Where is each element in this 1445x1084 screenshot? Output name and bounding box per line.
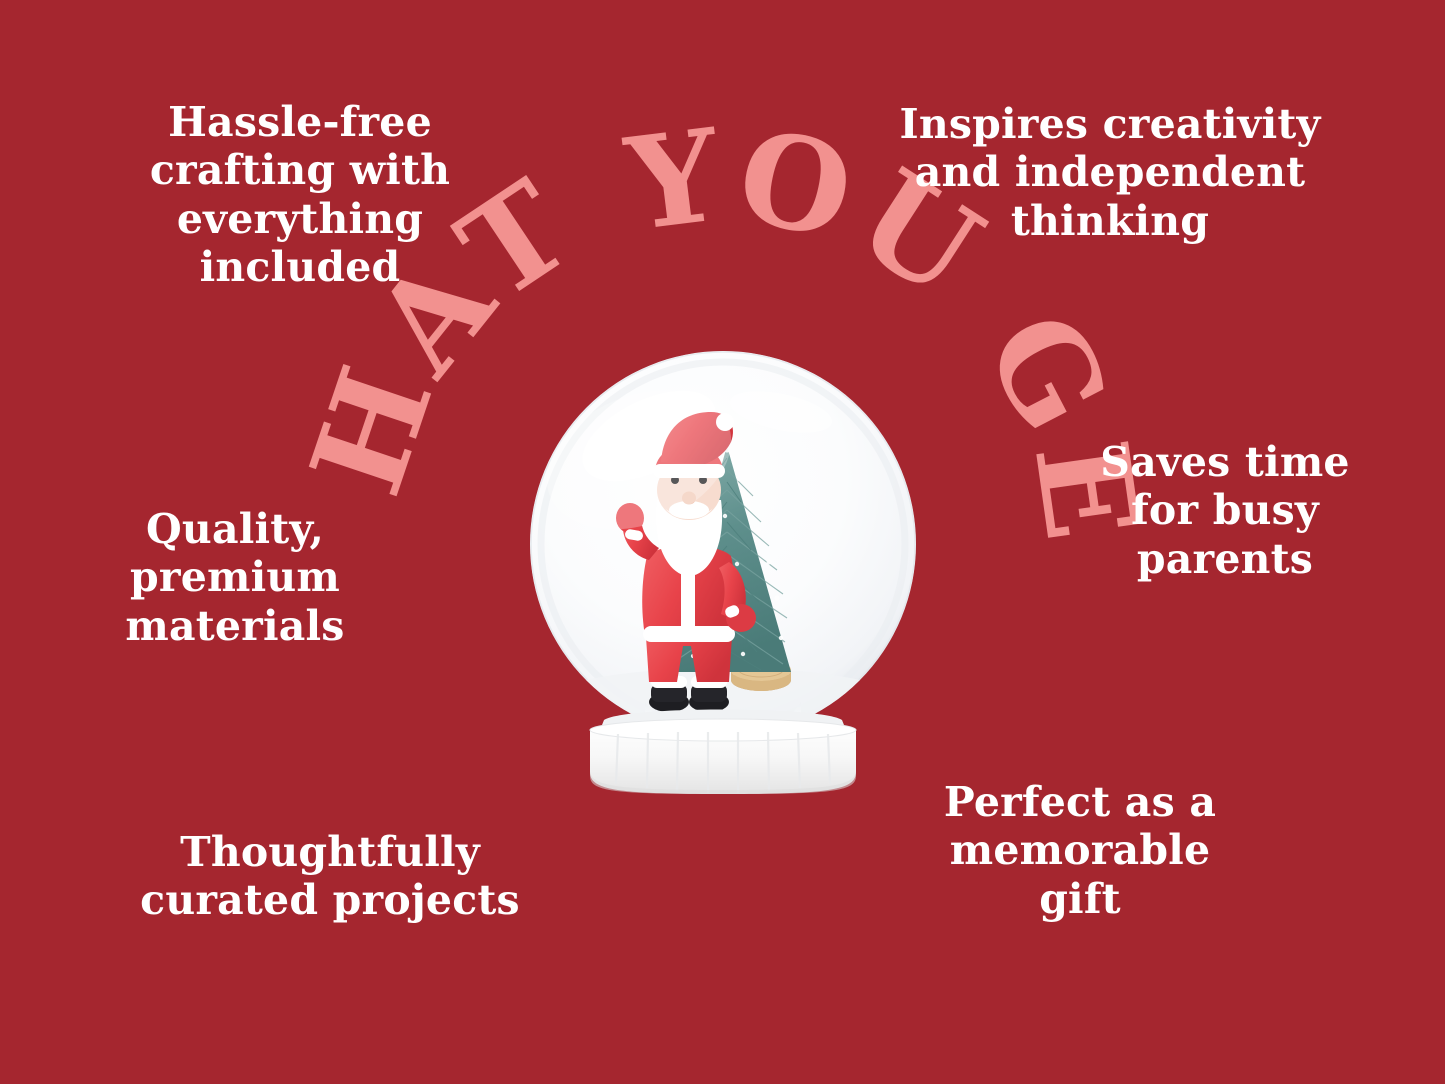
benefit-memorable-gift: Perfect as a memorable gift <box>905 778 1255 923</box>
poster-canvas: WHAT YOU GET Hassle-free crafting with e… <box>0 0 1445 1084</box>
snow-globe-base <box>560 700 886 798</box>
benefit-curated-projects: Thoughtfully curated projects <box>110 828 550 925</box>
benefit-quality-materials: Quality, premium materials <box>70 505 400 650</box>
snow-globe-illustration <box>529 350 917 738</box>
benefit-saves-time: Saves time for busy parents <box>1075 438 1375 583</box>
benefit-hassle-free: Hassle-free crafting with everything inc… <box>110 98 490 292</box>
benefit-inspires-creativity: Inspires creativity and independent thin… <box>860 100 1360 245</box>
